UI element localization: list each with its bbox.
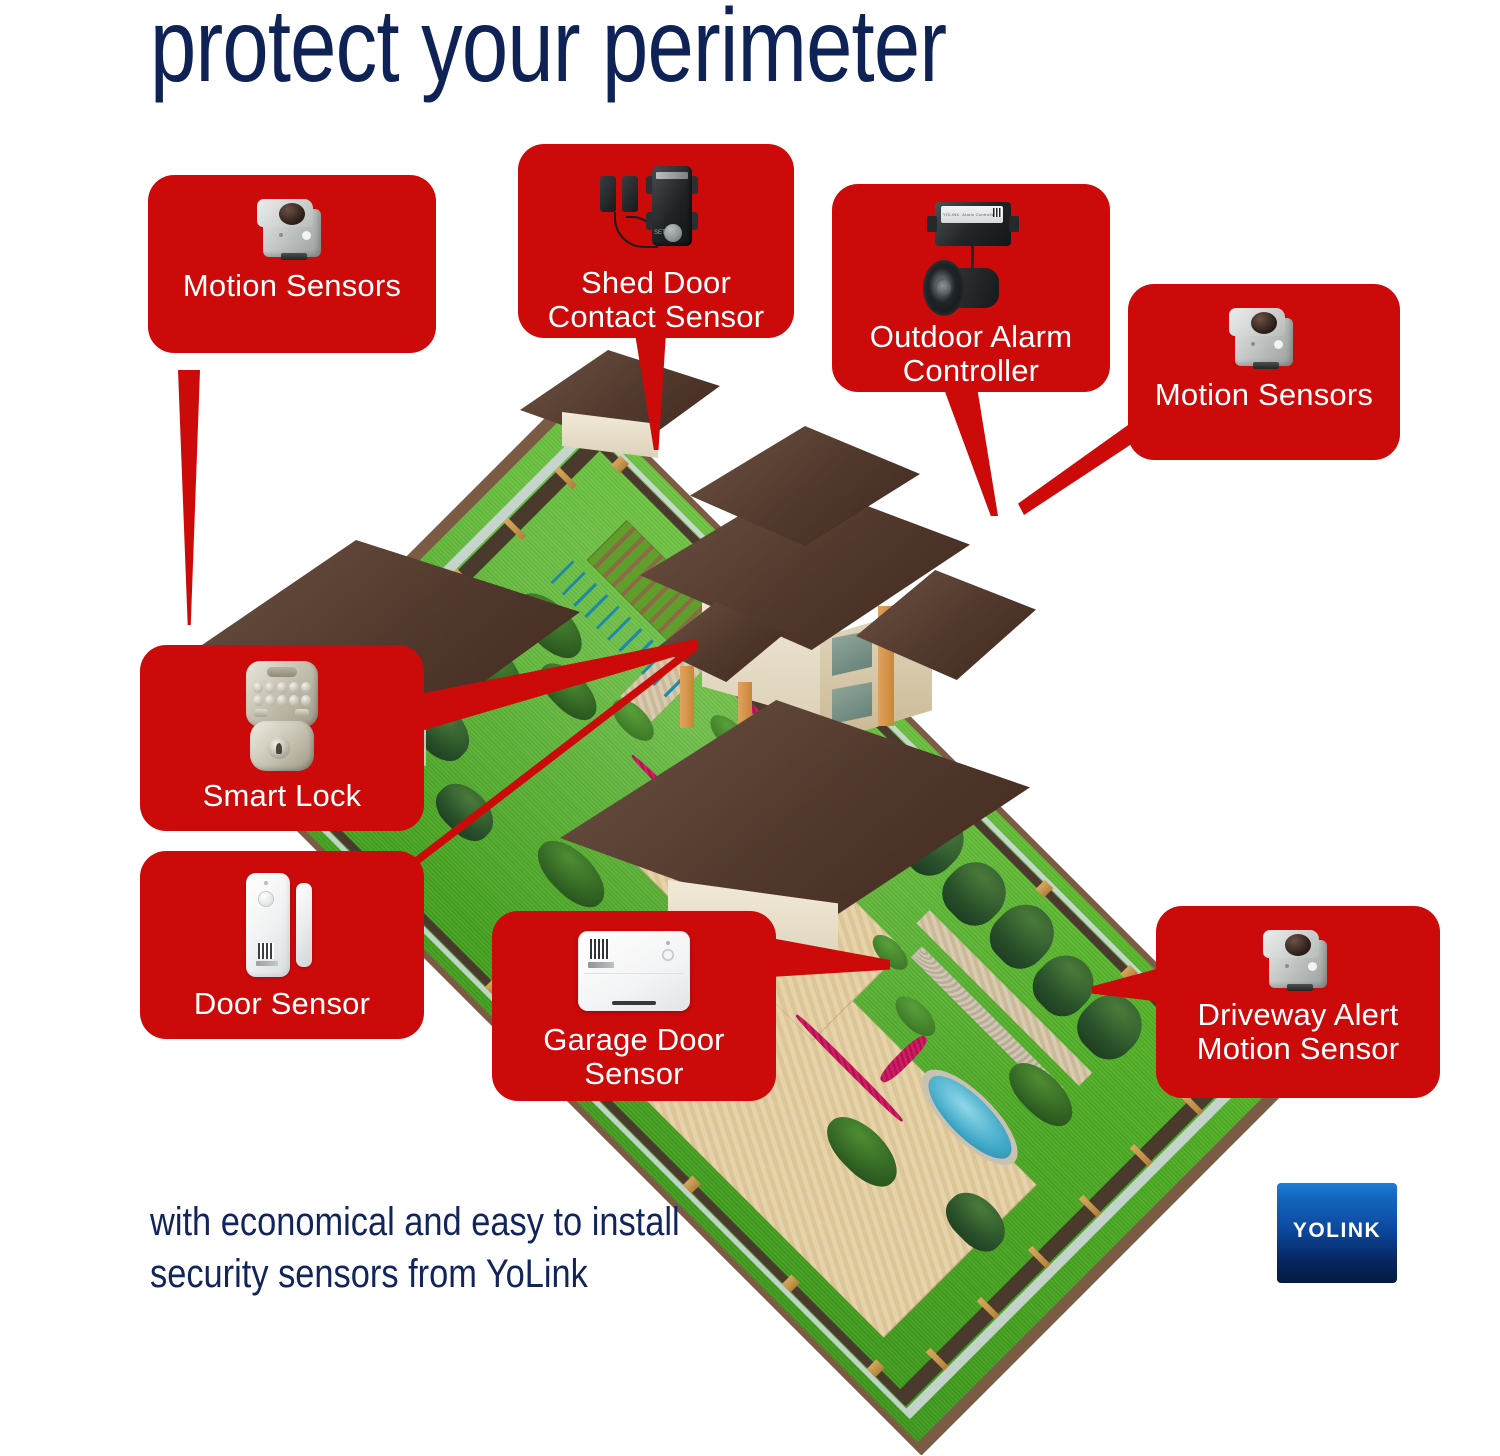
callout-label-line1: Shed Door (528, 266, 784, 300)
keypad-deadbolt-lock-icon (240, 661, 324, 773)
callout-label: Motion Sensors (1138, 378, 1390, 412)
callout-driveway-alert-motion-sensor[interactable]: Driveway Alert Motion Sensor (1156, 906, 1440, 1098)
pir-motion-sensor-icon (255, 195, 329, 259)
callout-label: Motion Sensors (158, 269, 426, 303)
callout-label: Smart Lock (150, 779, 414, 813)
callout-door-sensor[interactable]: Door Sensor (140, 851, 424, 1039)
callout-label-line2: Sensor (502, 1057, 766, 1091)
tagline: with economical and easy to install secu… (150, 1196, 804, 1300)
callout-label-line2: Contact Sensor (528, 300, 784, 334)
callout-outdoor-alarm-controller[interactable]: YOLINK Alarm Controller Outdoor Alarm Co… (832, 184, 1110, 392)
tagline-line-1: with economical and easy to install (150, 1196, 804, 1248)
callout-label-line1: Driveway Alert (1166, 998, 1430, 1032)
callout-motion-sensors-right[interactable]: Motion Sensors (1128, 284, 1400, 460)
tagline-line-2: security sensors from YoLink (150, 1248, 804, 1300)
door-contact-sensor-icon (234, 869, 330, 981)
page-title: protect your perimeter (150, 0, 1174, 98)
pir-motion-sensor-icon (1227, 304, 1301, 368)
alarm-controller-siren-icon: YOLINK Alarm Controller (901, 200, 1041, 320)
callout-smart-lock[interactable]: Smart Lock (140, 645, 424, 831)
callout-motion-sensors-left[interactable]: Motion Sensors (148, 175, 436, 353)
callout-shed-door-contact-sensor[interactable]: SET Shed Door Contact Sensor (518, 144, 794, 338)
callout-label: Door Sensor (150, 987, 414, 1021)
yolink-logo: YOLINK (1277, 1183, 1397, 1283)
callout-label-line2: Motion Sensor (1166, 1032, 1430, 1066)
garage-door-sensor-icon (578, 931, 690, 1015)
pir-motion-sensor-icon (1261, 926, 1335, 990)
shed (520, 340, 740, 490)
callout-garage-door-sensor[interactable]: Garage Door Sensor (492, 911, 776, 1101)
contact-sensor-icon: SET (596, 164, 716, 264)
garage-roof (560, 700, 1030, 930)
yolink-logo-text: YOLINK (1293, 1219, 1381, 1243)
callout-label-line1: Outdoor Alarm (842, 320, 1100, 354)
callout-label-line1: Garage Door (502, 1023, 766, 1057)
callout-label-line2: Controller (842, 354, 1100, 388)
